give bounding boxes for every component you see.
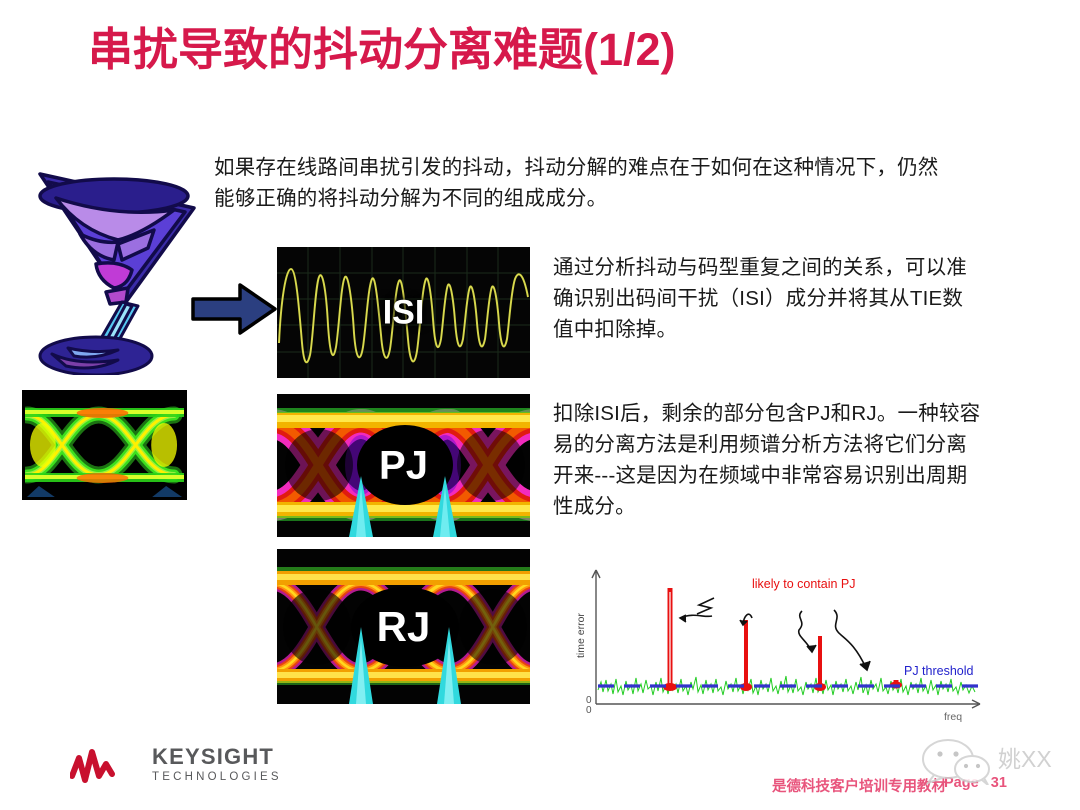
intro-paragraph: 如果存在线路间串扰引发的抖动，抖动分解的难点在于如何在这种情况下，仍然能够正确的… <box>214 152 954 214</box>
logo-subtitle: TECHNOLOGIES <box>152 772 282 784</box>
keysight-wordmark: KEYSIGHT TECHNOLOGIES <box>152 746 282 784</box>
axis-label-freq: freq <box>944 711 962 723</box>
pj-rj-description: 扣除ISI后，剩余的部分包含PJ和RJ。一种较容易的分离方法是利用频谱分析方法将… <box>553 398 983 523</box>
annotation-likely-pj: likely to contain PJ <box>752 577 856 591</box>
panel-label-isi: ISI <box>277 293 530 332</box>
page-title: 串扰导致的抖动分离难题(1/2) <box>88 22 676 78</box>
annotation-arrows <box>680 598 870 670</box>
scope-panel-rj: RJ <box>277 549 530 704</box>
martini-glass-illustration <box>22 160 207 375</box>
watermark-text: 姚XX <box>998 746 1052 772</box>
scope-panel-pj: PJ <box>277 394 530 537</box>
spectrum-chart: likely to contain PJ PJ threshold freq 0… <box>566 558 996 728</box>
logo-name: KEYSIGHT <box>152 746 282 768</box>
right-arrow-icon <box>190 281 278 337</box>
axis-label-time-error: time error <box>575 613 587 658</box>
scope-panel-isi: ISI <box>277 247 530 378</box>
panel-label-pj: PJ <box>277 443 530 488</box>
slide-canvas: 串扰导致的抖动分离难题(1/2) 如果存在线路间串扰引发的抖动，抖动分解的难点在… <box>0 0 1080 810</box>
pj-threshold-label: PJ threshold <box>904 664 974 678</box>
isi-description: 通过分析抖动与码型重复之间的关系，可以准确识别出码间干扰（ISI）成分并将其从T… <box>553 252 973 345</box>
axis-origin-label-2: 0 <box>586 705 592 716</box>
wechat-watermark: 姚XX <box>906 737 1076 785</box>
composite-eye-diagram <box>22 390 187 500</box>
panel-label-rj: RJ <box>277 603 530 651</box>
